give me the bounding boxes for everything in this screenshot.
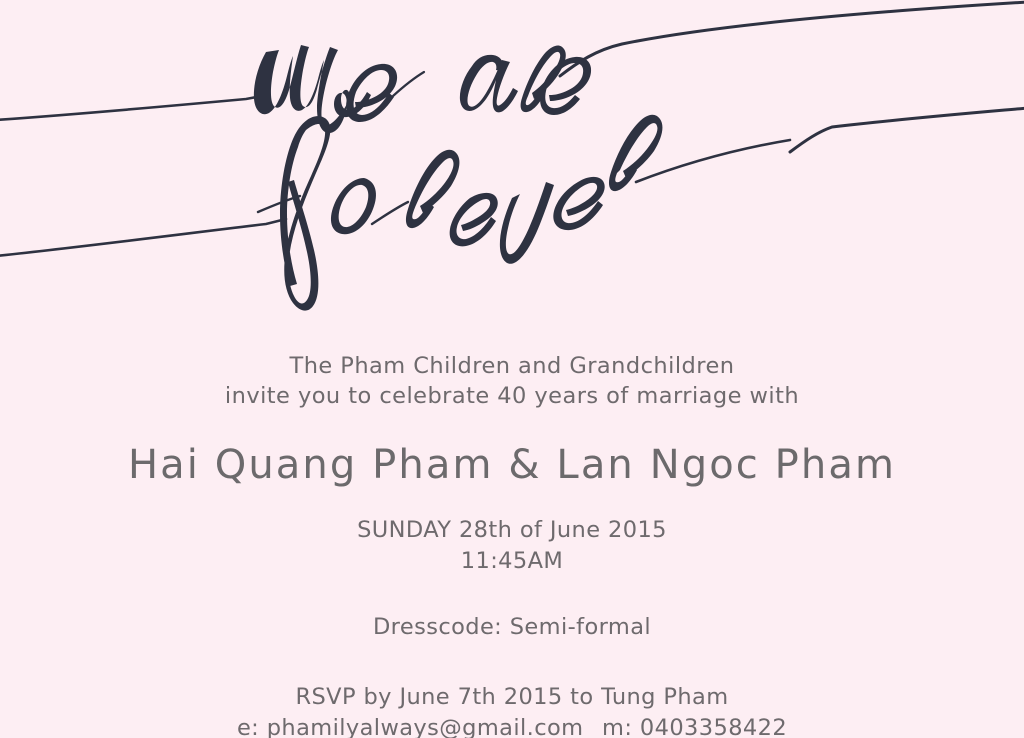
script-word-we	[254, 45, 424, 133]
invite-line-2: invite you to celebrate 40 years of marr…	[0, 381, 1024, 411]
honoree-names: Hai Quang Pham & Lan Ngoc Pham	[0, 441, 1024, 489]
event-time: 11:45AM	[0, 546, 1024, 577]
invite-intro: The Pham Children and Grandchildren invi…	[0, 351, 1024, 411]
invitation-card: The Pham Children and Grandchildren invi…	[0, 0, 1024, 738]
script-word-are	[460, 45, 591, 115]
decorative-line-top-right	[560, 2, 1024, 76]
dresscode: Dresscode: Semi-formal	[0, 612, 1024, 642]
rsvp-mobile-label: m:	[602, 715, 632, 738]
dresscode-text: Dresscode: Semi-formal	[0, 612, 1024, 642]
rsvp-instruction: RSVP by June 7th 2015 to Tung Pham	[0, 682, 1024, 713]
rsvp-email-label: e:	[237, 715, 259, 738]
event-date: SUNDAY 28th of June 2015	[0, 515, 1024, 546]
headline-artwork	[0, 0, 1024, 340]
decorative-line-bottom-left	[0, 219, 286, 256]
invite-line-1: The Pham Children and Grandchildren	[0, 351, 1024, 381]
rsvp: RSVP by June 7th 2015 to Tung Pham e: ph…	[0, 682, 1024, 738]
decorative-line-top-left	[0, 96, 262, 120]
invitation-copy: The Pham Children and Grandchildren invi…	[0, 340, 1024, 738]
script-word-forever	[258, 115, 790, 311]
rsvp-mobile-number[interactable]: 0403358422	[640, 715, 787, 738]
decorative-line-bottom-right	[790, 108, 1024, 152]
event-datetime: SUNDAY 28th of June 2015 11:45AM	[0, 515, 1024, 577]
rsvp-contact: e: phamilyalways@gmail.com m: 0403358422	[0, 713, 1024, 738]
rsvp-email-address[interactable]: phamilyalways@gmail.com	[267, 715, 584, 738]
